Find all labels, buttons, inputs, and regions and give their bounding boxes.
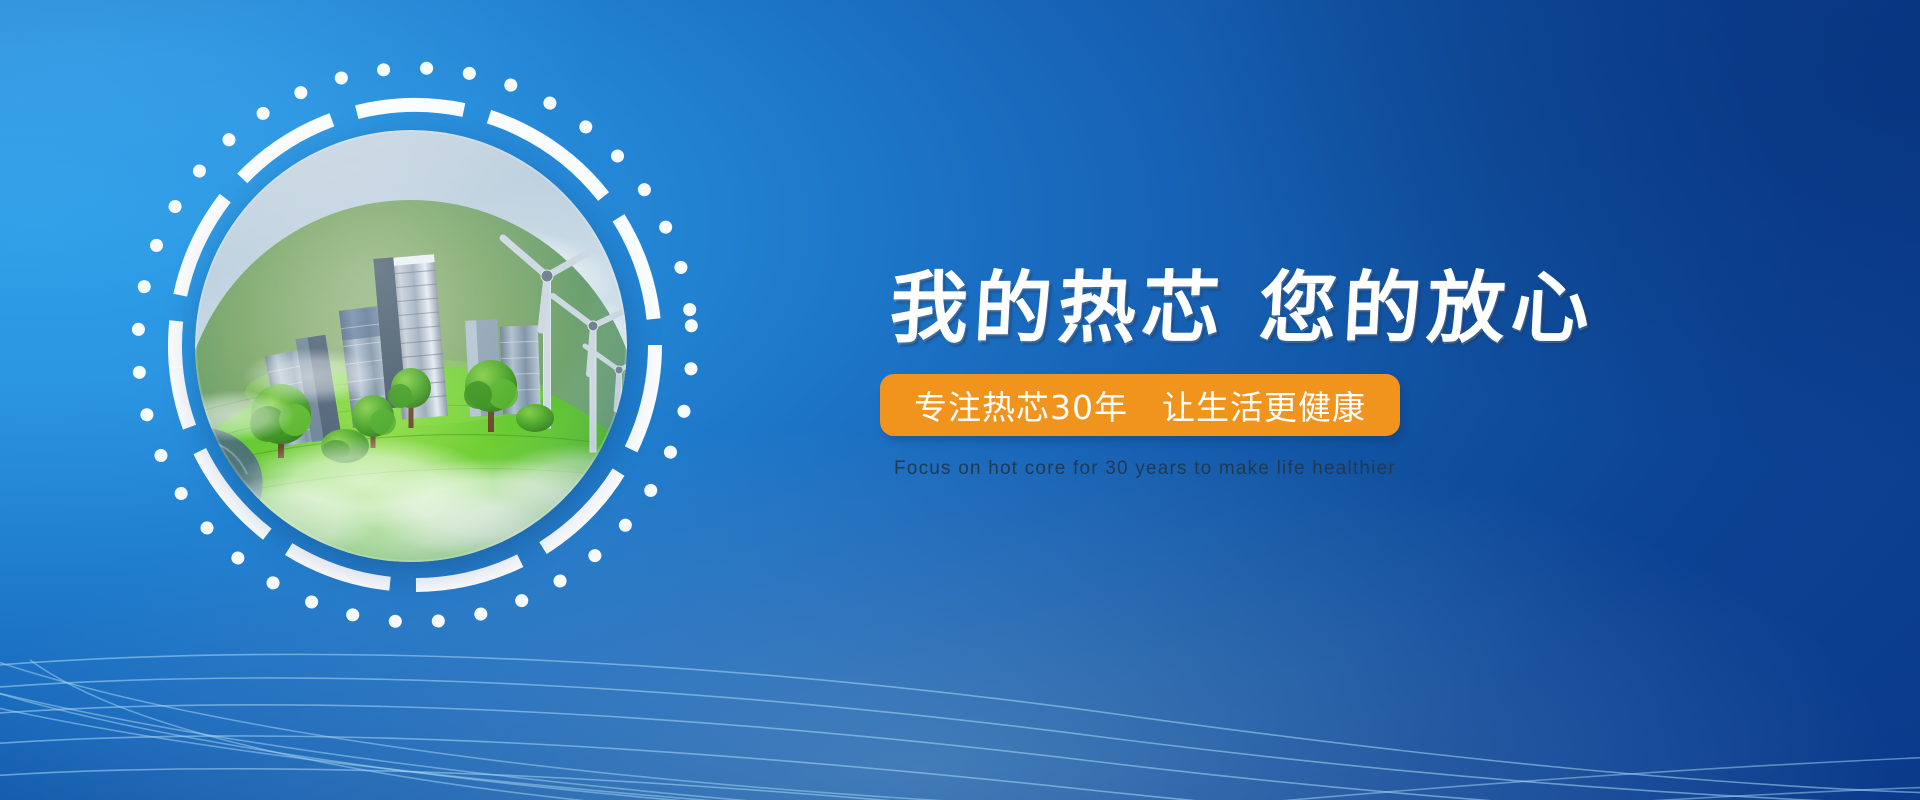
planet-illustration [195,130,627,562]
planet-image [195,130,627,562]
hero-banner: 我的热芯 您的放心 专注热芯30年 让生活更健康 Focus on hot co… [0,0,1920,800]
tagline-badge: 专注热芯30年 让生活更健康 [880,374,1400,436]
banner-copy: 我的热芯 您的放心 专注热芯30年 让生活更健康 Focus on hot co… [890,270,1590,480]
page-title: 我的热芯 您的放心 [888,270,1592,348]
tagline-badge-row: 专注热芯30年 让生活更健康 [880,374,1590,436]
english-subtitle: Focus on hot core for 30 years to make l… [894,458,1590,480]
eco-planet-graphic [130,55,700,635]
